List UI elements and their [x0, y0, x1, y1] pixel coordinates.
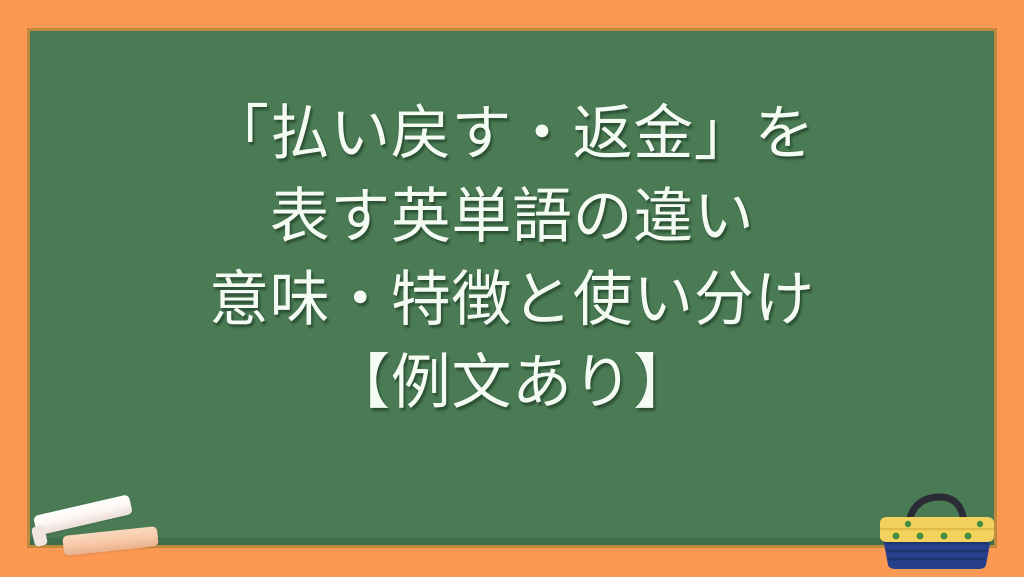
basket-dot-3 [941, 533, 948, 540]
chalkboard-frame: 「払い戻す・返金」を 表す英単語の違い 意味・特徴と使い分け 【例文あり】 [27, 28, 997, 548]
basket-dot-1 [893, 533, 900, 540]
title-line-2: 表す英単語の違い [270, 176, 755, 259]
basket-dot-5 [905, 521, 911, 527]
peach-chalk-icon [62, 526, 159, 556]
thumbnail-card: 「払い戻す・返金」を 表す英単語の違い 意味・特徴と使い分け 【例文あり】 [0, 0, 1024, 577]
title-block: 「払い戻す・返金」を 表す英単語の違い 意味・特徴と使い分け 【例文あり】 [30, 31, 994, 545]
title-line-3: 意味・特徴と使い分け [209, 259, 815, 342]
title-line-1: 「払い戻す・返金」を [209, 93, 815, 176]
chalk-sticks-illustration [18, 481, 188, 573]
basket-dot-2 [917, 533, 924, 540]
title-line-4: 【例文あり】 [330, 342, 694, 425]
picnic-basket-illustration [874, 485, 1000, 571]
chalkboard-surface: 「払い戻す・返金」を 表す英単語の違い 意味・特徴と使い分け 【例文あり】 [30, 31, 994, 545]
basket-dot-4 [965, 533, 972, 540]
basket-dot-6 [977, 521, 983, 527]
